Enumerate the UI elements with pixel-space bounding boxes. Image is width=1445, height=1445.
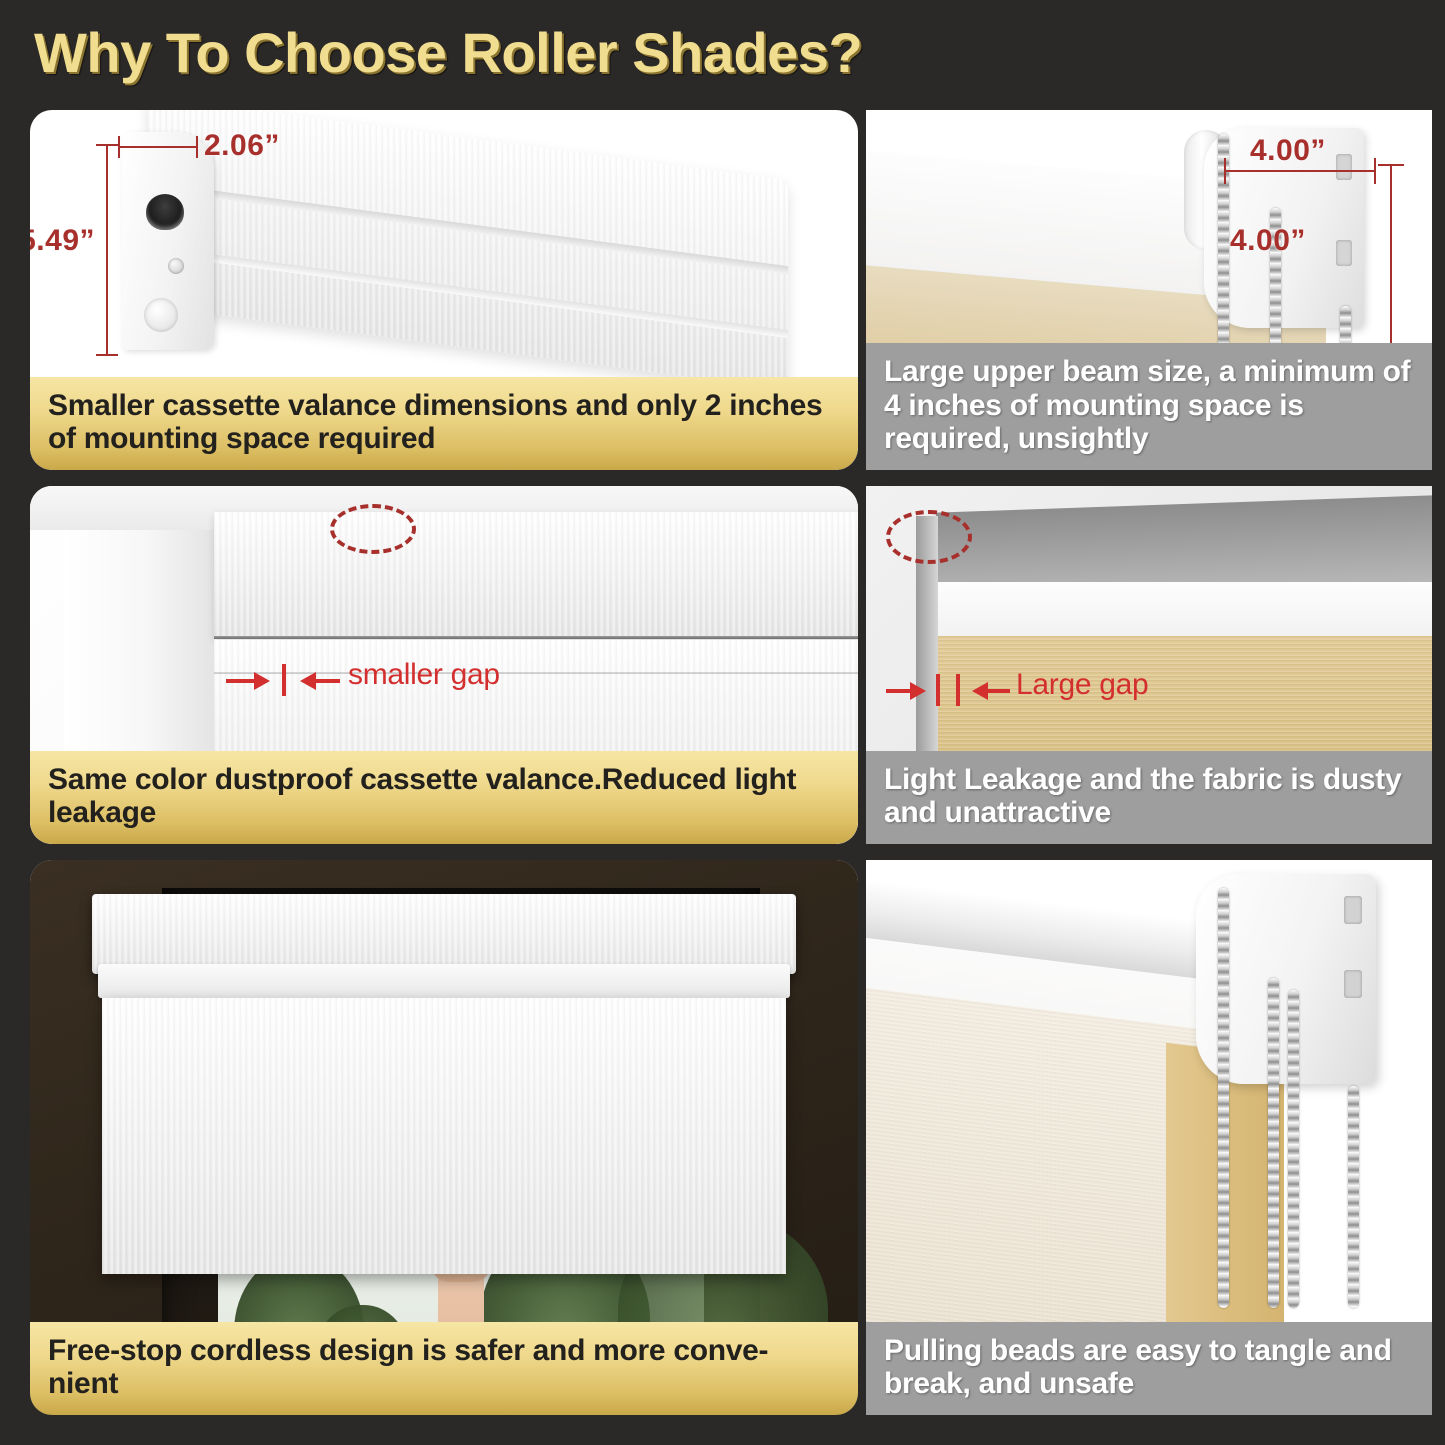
- dimension-label-width: 4.00”: [1250, 134, 1326, 168]
- dim-tick: [96, 144, 118, 146]
- bead-chain: [1218, 888, 1229, 1308]
- cassette-valance: [214, 512, 858, 638]
- dim-tick: [1224, 158, 1226, 184]
- panel-5-caption: Free-stop cordless design is safer and m…: [30, 1322, 858, 1415]
- page-title: Why To Choose Roller Shades?: [34, 20, 862, 85]
- large-gap-label: Large gap: [1016, 668, 1148, 702]
- dimension-label-height: 5.49”: [30, 224, 95, 258]
- bead-chain: [1268, 978, 1279, 1308]
- gap-highlight-circle: [330, 504, 416, 554]
- panel-pulling-beads: Pulling beads are easy to tangle and bre…: [866, 860, 1432, 1415]
- dim-line-horizontal: [118, 146, 198, 148]
- shade-assembly: [92, 894, 796, 1274]
- panel-3-caption: Same color dustproof cassette valance.Re…: [30, 751, 858, 844]
- panel-6-caption: Pulling beads are easy to tangle and bre…: [866, 1322, 1432, 1415]
- panel-dustproof-cassette-valance: smaller gap Same color dustproof cassett…: [30, 486, 858, 844]
- valance-slot: [146, 194, 184, 230]
- bead-chain: [1348, 1086, 1359, 1308]
- dim-line-vertical: [1390, 164, 1392, 364]
- gap-highlight-circle: [886, 510, 972, 564]
- cassette-valance: [92, 894, 796, 974]
- panel-5-caption-line2: nient: [48, 1367, 118, 1400]
- dim-line-horizontal: [1224, 170, 1376, 172]
- panel-light-leakage: Large gap Light Leakage and the fabric i…: [866, 486, 1432, 844]
- valance-gap-line: [214, 636, 858, 639]
- panel-cordless-design: Free-stop cordless design is safer and m…: [30, 860, 858, 1415]
- smaller-gap-label: smaller gap: [348, 658, 500, 692]
- valance-end-cap: [122, 132, 214, 350]
- bead-chain: [1288, 990, 1299, 1308]
- infographic-root: Why To Choose Roller Shades? 2.06” 5.49”: [0, 0, 1445, 1445]
- valance-knob: [144, 298, 178, 332]
- dim-tick: [96, 354, 118, 356]
- panel-cassette-valance-dimensions: 2.06” 5.49” Smaller cassette valance dim…: [30, 110, 858, 470]
- valance-screw: [168, 258, 184, 274]
- panel-large-beam-dimensions: 4.00” 4.00” Large upper beam size, a min…: [866, 110, 1432, 470]
- panel-4-caption: Light Leakage and the fabric is dusty an…: [866, 751, 1432, 844]
- dim-tick: [1374, 158, 1376, 184]
- dim-tick: [1378, 164, 1404, 166]
- panel-2-caption: Large upper beam size, a minimum of 4 in…: [866, 343, 1432, 470]
- dim-tick: [196, 136, 198, 158]
- dimension-label-width: 2.06”: [204, 129, 280, 163]
- panel-1-caption: Smaller cassette valance dimensions and …: [30, 377, 858, 470]
- panel-5-caption-line1: Free-stop cordless design is safer and m…: [48, 1334, 768, 1367]
- dim-line-vertical: [106, 144, 108, 356]
- shade-fabric: [102, 998, 786, 1274]
- dim-tick: [118, 136, 120, 158]
- dimension-label-height: 4.00”: [1230, 224, 1306, 258]
- valance-lip: [98, 964, 790, 998]
